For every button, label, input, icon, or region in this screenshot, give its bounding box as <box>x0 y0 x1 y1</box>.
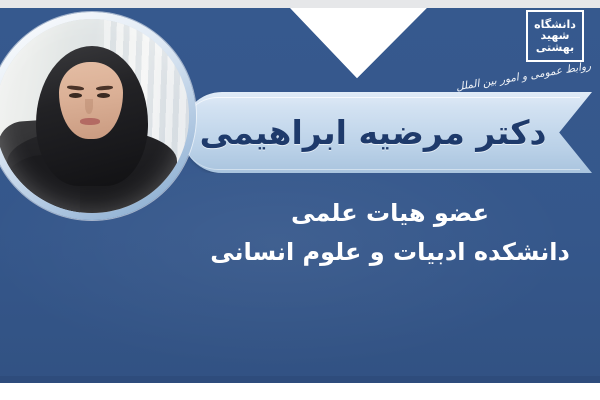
faculty-profile-card: دکتر مرضیه ابراهیمی عضو هیات علمی دانشکد… <box>0 0 600 400</box>
professor-name: دکتر مرضیه ابراهیمی <box>182 92 564 173</box>
faculty-name: دانشکده ادبیات و علوم انسانی <box>190 235 590 270</box>
logo-frame-icon: دانشگاه شهید بهشتی <box>526 10 584 62</box>
top-light-strip <box>0 0 600 8</box>
logo-script-icon: دانشگاه شهید بهشتی <box>528 12 582 60</box>
logo-line-3: بهشتی <box>536 42 574 54</box>
role-title: عضو هیات علمی <box>190 196 590 231</box>
photo-vignette <box>0 19 189 213</box>
avatar <box>0 12 196 220</box>
panel-bottom-band <box>0 376 600 383</box>
university-logo: دانشگاه شهید بهشتی روابط عمومی و امور بی… <box>500 8 592 86</box>
avatar-photo <box>0 19 189 213</box>
role-block: عضو هیات علمی دانشکده ادبیات و علوم انسا… <box>190 196 590 270</box>
